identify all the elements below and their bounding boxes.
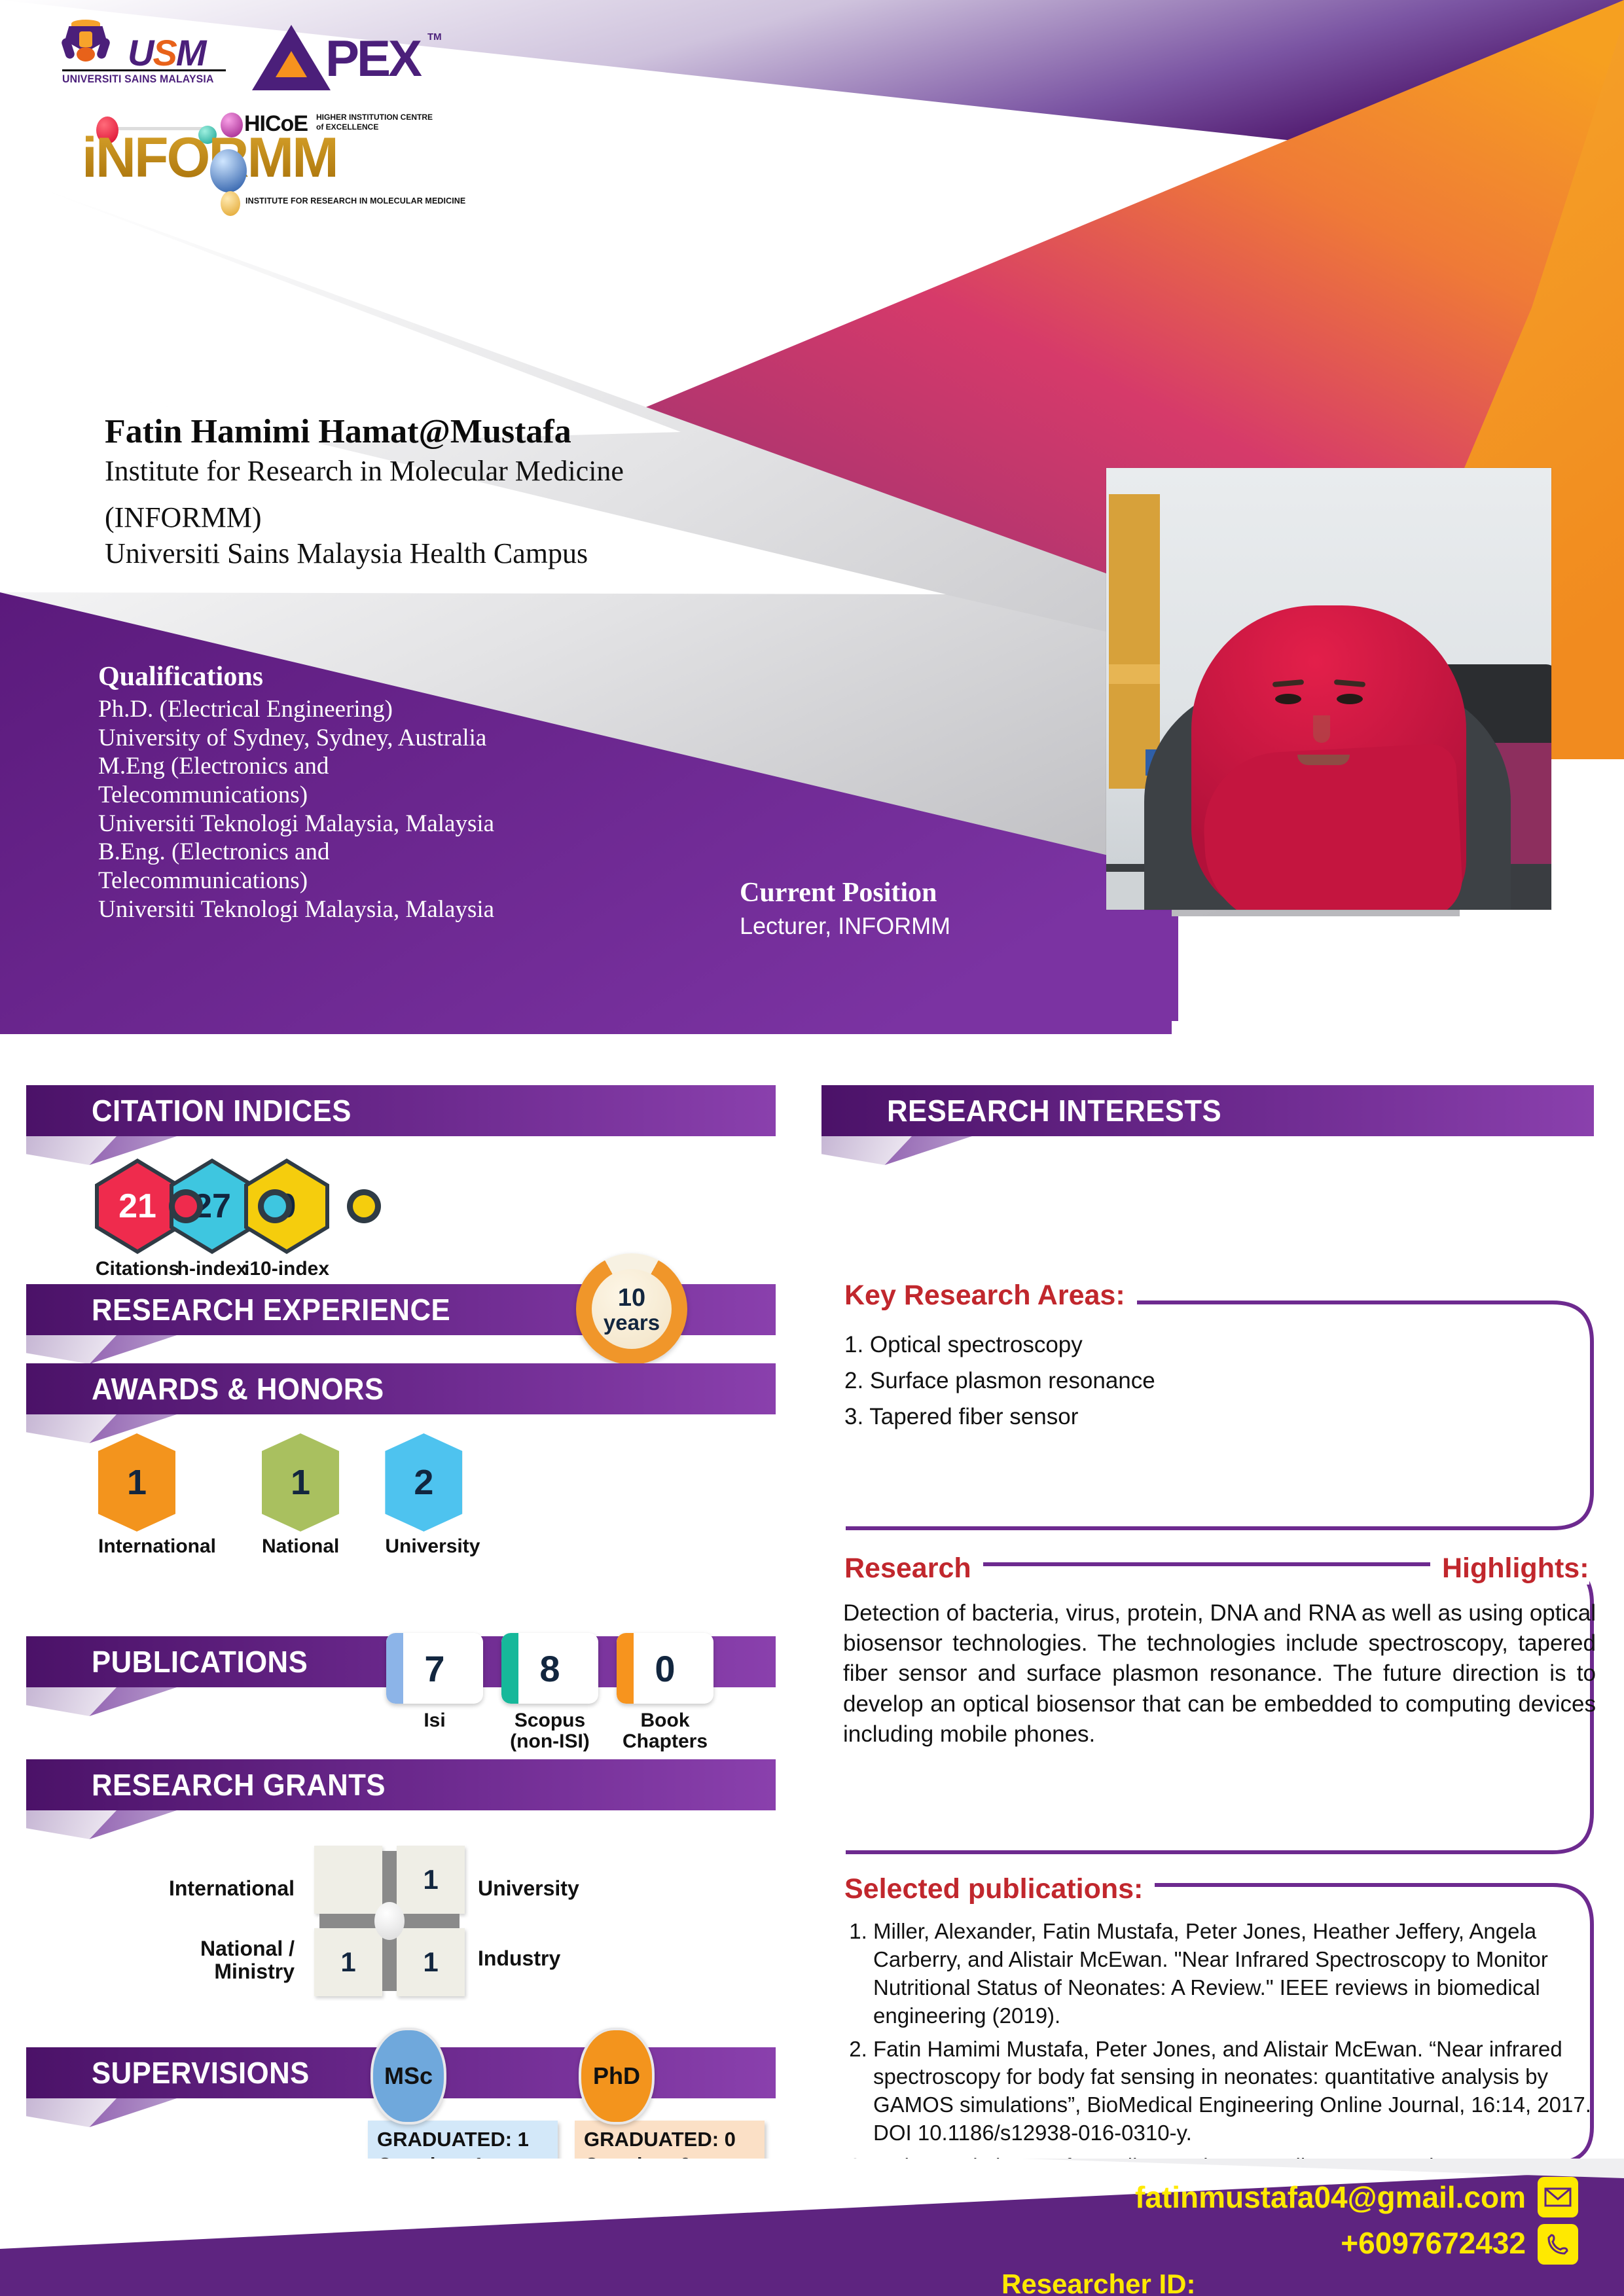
award-label: National: [262, 1535, 339, 1558]
usm-acronym: USM: [128, 37, 205, 69]
qualifications-block: Qualifications Ph.D. (Electrical Enginee…: [98, 661, 687, 924]
awards-chart: 1 International 1 National 2 University: [98, 1433, 480, 1558]
publication-accent-bar: [386, 1633, 403, 1704]
section-title: PUBLICATIONS: [92, 1636, 308, 1687]
connector-dot-icon: [353, 1195, 375, 1217]
publication-count-box: 7: [386, 1633, 483, 1704]
informm-logo: iNFORMM HICoE HIGHER INSTITUTION CENTRE …: [82, 111, 501, 209]
key-research-area-item: 3. Tapered fiber sensor: [844, 1404, 1078, 1430]
hicoe-subtitle-line2: of EXCELLENCE: [316, 122, 433, 132]
citation-item: 27 h-index: [170, 1158, 255, 1280]
institute-abbreviation: (INFORMM): [105, 499, 864, 535]
grant-international-label: International: [59, 1877, 295, 1900]
key-research-area-item: 2. Surface plasmon resonance: [844, 1368, 1155, 1394]
experience-badge: 10 years: [576, 1253, 687, 1365]
award-item: 2 University: [385, 1433, 480, 1558]
citation-item: 21 Citations: [95, 1158, 180, 1280]
award-value: 2: [385, 1433, 462, 1532]
qualification-line: Ph.D. (Electrical Engineering): [98, 695, 687, 724]
grant-university-label: University: [478, 1877, 579, 1900]
qualification-line: Telecommunications): [98, 781, 687, 810]
grant-national-value: 1: [314, 1928, 382, 1996]
supervision-msc-graduated: GRADUATED: 1: [377, 2127, 549, 2153]
mail-glyph: [1544, 2187, 1572, 2207]
phone-glyph: [1546, 2233, 1570, 2256]
apex-inner-triangle-icon: [276, 51, 307, 77]
usm-crest-icon: [62, 18, 109, 69]
list-item: Miller, Alexander, Fatin Mustafa, Peter …: [873, 1918, 1596, 2030]
supervision-badge-msc: MSc: [370, 2028, 446, 2125]
publication-accent-bar: [501, 1633, 518, 1704]
usm-logo: USM: [62, 18, 205, 69]
current-position-block: Current Position Lecturer, INFORMM: [740, 877, 950, 940]
phone-icon[interactable]: [1538, 2224, 1578, 2265]
connector-dot-icon: [175, 1195, 197, 1217]
usm-nameplate: UNIVERSITI SAINS MALAYSIA: [62, 69, 226, 86]
hicoe-subtitle-line1: HIGHER INSTITUTION CENTRE: [316, 113, 433, 122]
key-research-area-item: 1. Optical spectroscopy: [844, 1332, 1083, 1358]
award-label: University: [385, 1535, 480, 1558]
profile-identity: Fatin Hamimi Hamat@Mustafa Institute for…: [105, 412, 864, 571]
experience-value: 10: [618, 1285, 645, 1310]
research-highlights-title-left: Research: [844, 1552, 983, 1585]
publications-chart: 7 Isi 8 Scopus (non-ISI) 0 Book Chapters: [386, 1633, 732, 1753]
informm-wordmark: iNFORMM: [82, 130, 337, 186]
section-title: SUPERVISIONS: [92, 2047, 310, 2098]
supervision-phd-graduated: GRADUATED: 0: [584, 2127, 755, 2153]
grant-national-label: National / Ministry: [59, 1937, 295, 1982]
current-position-title: Current Position: [740, 877, 950, 908]
institute-name: Institute for Research in Molecular Medi…: [105, 454, 864, 489]
grant-industry-label: Industry: [478, 1947, 560, 1970]
citation-label: h-index: [170, 1258, 255, 1280]
current-position-value: Lecturer, INFORMM: [740, 912, 950, 940]
publication-label-line1: Book: [617, 1710, 713, 1731]
supervision-badge-phd-label: PhD: [593, 2062, 640, 2090]
logo-group: USM UNIVERSITI SAINS MALAYSIA PEX TM iNF…: [62, 13, 533, 262]
publication-label: Isi: [386, 1710, 483, 1731]
apex-wordmark: PEX: [325, 33, 420, 84]
citation-label: Citations: [95, 1258, 180, 1280]
list-item: Fatin Hamimi Mustafa, Peter Jones, and A…: [873, 2036, 1596, 2148]
citation-hex-outline: 0: [244, 1158, 329, 1254]
publication-value: 8: [539, 1647, 560, 1690]
citation-hex-outline: 21: [95, 1158, 180, 1254]
qualification-line: Universiti Teknologi Malaysia, Malaysia: [98, 810, 687, 838]
publication-label: Book Chapters: [617, 1710, 713, 1753]
citation-label: i10-index: [244, 1258, 329, 1280]
qualifications-title: Qualifications: [98, 661, 687, 692]
apex-trademark: TM: [427, 31, 442, 43]
publication-count-box: 0: [617, 1633, 713, 1704]
usm-full-name: UNIVERSITI SAINS MALAYSIA: [62, 73, 215, 86]
section-header-research-grants: RESEARCH GRANTS: [26, 1759, 776, 1810]
molecule-gold-icon: [221, 191, 240, 216]
research-highlights-title-right: Highlights:: [1430, 1552, 1589, 1585]
citation-value: 21: [99, 1163, 176, 1249]
grants-center-hub: [374, 1902, 405, 1940]
section-title: RESEARCH INTERESTS: [887, 1085, 1221, 1136]
publication-accent-bar: [617, 1633, 634, 1704]
experience-badge-inner: 10 years: [592, 1269, 672, 1349]
usm-rule: [62, 69, 226, 71]
mail-icon[interactable]: [1538, 2177, 1578, 2217]
grant-national-label-line2: Ministry: [59, 1960, 295, 1983]
connector-dot-icon: [264, 1195, 286, 1217]
citation-item: 0 i10-index: [244, 1158, 329, 1280]
informm-full-name: INSTITUTE FOR RESEARCH IN MOLECULAR MEDI…: [245, 196, 465, 206]
publication-item: 8 Scopus (non-ISI): [501, 1633, 598, 1753]
citation-indices-chart: 21 Citations 27 h-index 0 i10-index: [95, 1158, 329, 1280]
grant-national-label-line1: National /: [59, 1937, 295, 1960]
award-item: 1 National: [262, 1433, 339, 1558]
hicoe-subtitle: HIGHER INSTITUTION CENTRE of EXCELLENCE: [316, 113, 433, 132]
page-title: Fatin Hamimi Hamat@Mustafa: [105, 412, 864, 452]
publication-label-line2: (non-ISI): [501, 1731, 598, 1752]
section-title: RESEARCH GRANTS: [92, 1759, 386, 1810]
grant-industry-value: 1: [397, 1928, 465, 1996]
research-grants-chart: 1 1 1 International University National …: [314, 1846, 465, 1996]
section-title: CITATION INDICES: [92, 1085, 352, 1136]
publication-label-line1: Scopus: [501, 1710, 598, 1731]
qualification-line: B.Eng. (Electronics and: [98, 838, 687, 867]
experience-unit: years: [604, 1312, 660, 1333]
section-header-research-interests: RESEARCH INTERESTS: [821, 1085, 1594, 1136]
header-decoration: USM UNIVERSITI SAINS MALAYSIA PEX TM iNF…: [0, 0, 1624, 1047]
research-highlights-text: Detection of bacteria, virus, protein, D…: [843, 1598, 1596, 1749]
award-value: 1: [98, 1433, 175, 1532]
publication-value: 0: [655, 1647, 675, 1690]
publication-value: 7: [424, 1647, 444, 1690]
publication-item: 0 Book Chapters: [617, 1633, 713, 1753]
qualification-line: Universiti Teknologi Malaysia, Malaysia: [98, 895, 687, 924]
publication-label: Scopus (non-ISI): [501, 1710, 598, 1753]
grant-international-value: [314, 1846, 382, 1914]
grant-university-value: 1: [397, 1846, 465, 1914]
hicoe-wordmark: HICoE: [244, 111, 308, 137]
publication-label-line2: Chapters: [617, 1731, 713, 1752]
qualification-line: M.Eng (Electronics and: [98, 752, 687, 781]
qualification-line: University of Sydney, Sydney, Australia: [98, 724, 687, 753]
footer: fatinmustafa04@gmail.com +6097672432 Res…: [0, 2159, 1624, 2296]
key-research-areas-title: Key Research Areas:: [844, 1280, 1137, 1312]
apex-logo: PEX TM: [252, 22, 448, 94]
grants-pinwheel: 1 1 1: [314, 1846, 465, 1996]
section-header-citation-indices: CITATION INDICES: [26, 1085, 776, 1136]
contact-email[interactable]: fatinmustafa04@gmail.com: [1135, 2179, 1526, 2215]
award-item: 1 International: [98, 1433, 216, 1558]
avatar: [1106, 468, 1551, 910]
supervision-badge-phd: PhD: [579, 2028, 655, 2125]
publication-item: 7 Isi: [386, 1633, 483, 1731]
section-title: AWARDS & HONORS: [92, 1363, 384, 1414]
citation-value: 0: [248, 1163, 325, 1249]
section-header-awards-honors: AWARDS & HONORS: [26, 1363, 776, 1414]
poster-root: USM UNIVERSITI SAINS MALAYSIA PEX TM iNF…: [0, 0, 1624, 2296]
researcher-id-label: Researcher ID:: [1001, 2269, 1195, 2296]
molecule-blue-icon: [210, 149, 247, 192]
section-title: RESEARCH EXPERIENCE: [92, 1284, 450, 1335]
qualification-line: Telecommunications): [98, 867, 687, 895]
selected-publications-title: Selected publications:: [844, 1873, 1155, 1905]
contact-phone[interactable]: +6097672432: [1341, 2225, 1526, 2261]
publication-count-box: 8: [501, 1633, 598, 1704]
supervision-badge-msc-label: MSc: [384, 2062, 433, 2090]
award-label: International: [98, 1535, 216, 1558]
award-value: 1: [262, 1433, 339, 1532]
campus-name: Universiti Sains Malaysia Health Campus: [105, 535, 864, 571]
